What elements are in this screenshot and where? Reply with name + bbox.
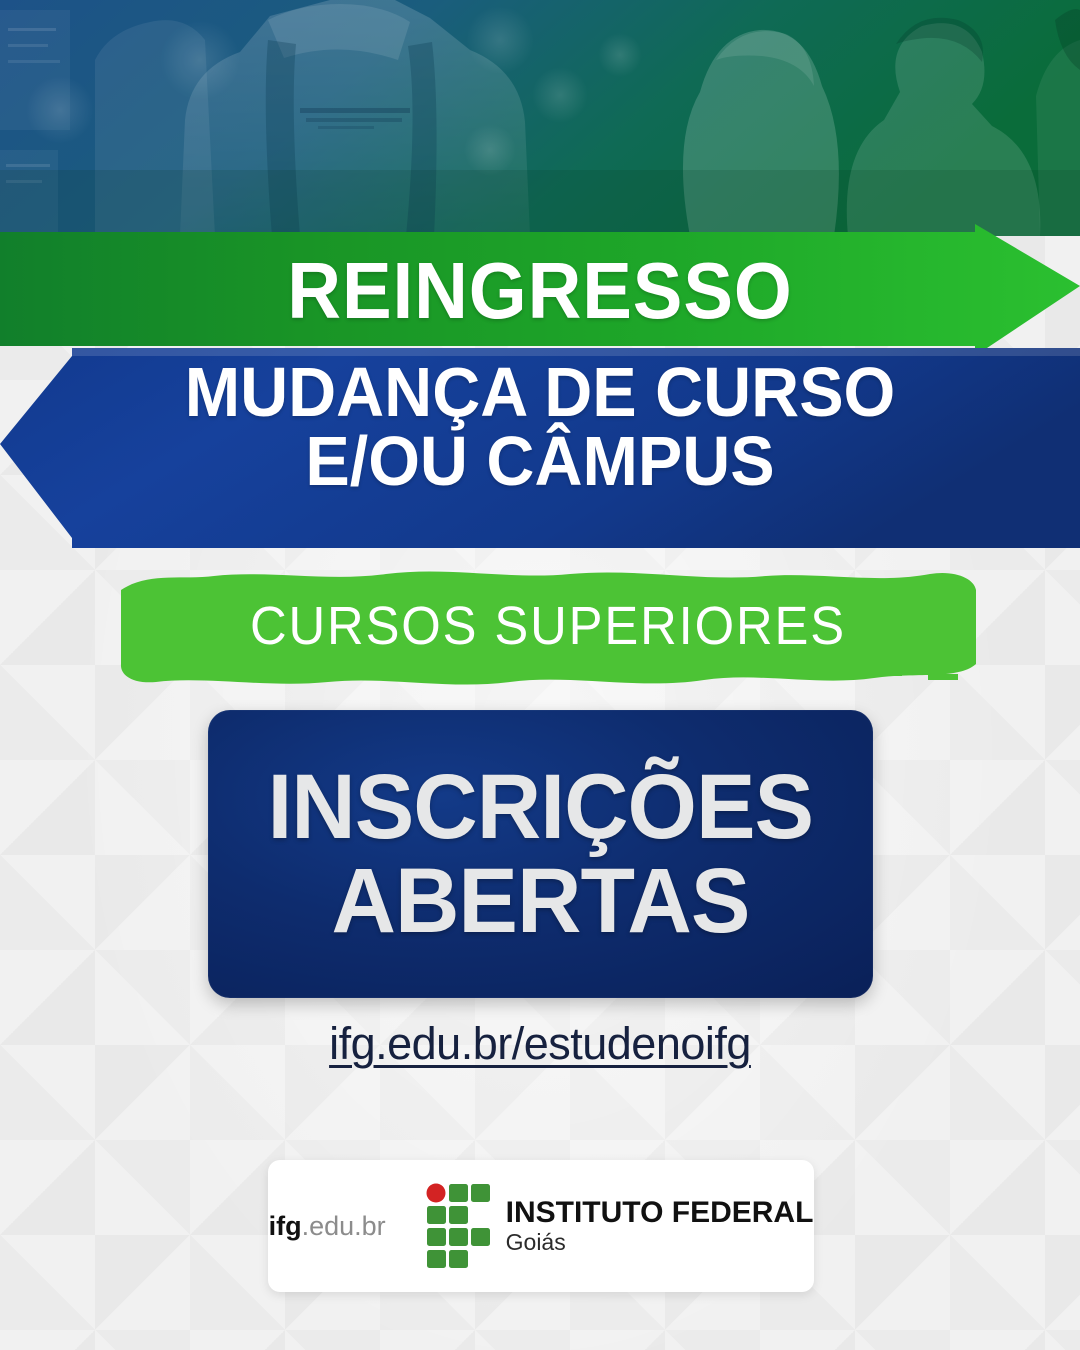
brush-banner-label: CURSOS SUPERIORES	[144, 560, 952, 692]
hero-photo	[0, 0, 1080, 236]
inscricoes-abertas-box: INSCRIÇÕES ABERTAS	[208, 710, 873, 998]
ifg-site-label: ifg.edu.br	[269, 1211, 386, 1242]
poster-root: REINGRESSO MUDANÇA DE CURSO E/OU CÂMPUS	[0, 0, 1080, 1350]
blue-band-line-1: MUDANÇA DE CURSO	[27, 358, 1053, 427]
ifg-site-bold: ifg	[269, 1211, 302, 1241]
instituto-federal-line-2: Goiás	[506, 1230, 814, 1255]
cta-line-1: INSCRIÇÕES	[268, 762, 814, 852]
blue-band-line-2: E/OU CÂMPUS	[27, 427, 1053, 496]
instituto-federal-mark-icon	[426, 1183, 492, 1269]
site-url[interactable]: ifg.edu.br/estudenoifg	[0, 1018, 1080, 1070]
blue-band-title: MUDANÇA DE CURSO E/OU CÂMPUS	[0, 358, 1080, 495]
footer-logo-card: ifg.edu.br INSTITUTO FEDERAL	[268, 1160, 814, 1292]
instituto-federal-line-1: INSTITUTO FEDERAL	[506, 1197, 814, 1229]
instituto-federal-wordmark: INSTITUTO FEDERAL Goiás	[506, 1197, 814, 1255]
ifg-site-rest: .edu.br	[302, 1211, 386, 1241]
instituto-federal-lockup: INSTITUTO FEDERAL Goiás	[426, 1183, 814, 1269]
green-band-title: REINGRESSO	[38, 236, 1042, 346]
cta-line-2: ABERTAS	[332, 856, 750, 946]
